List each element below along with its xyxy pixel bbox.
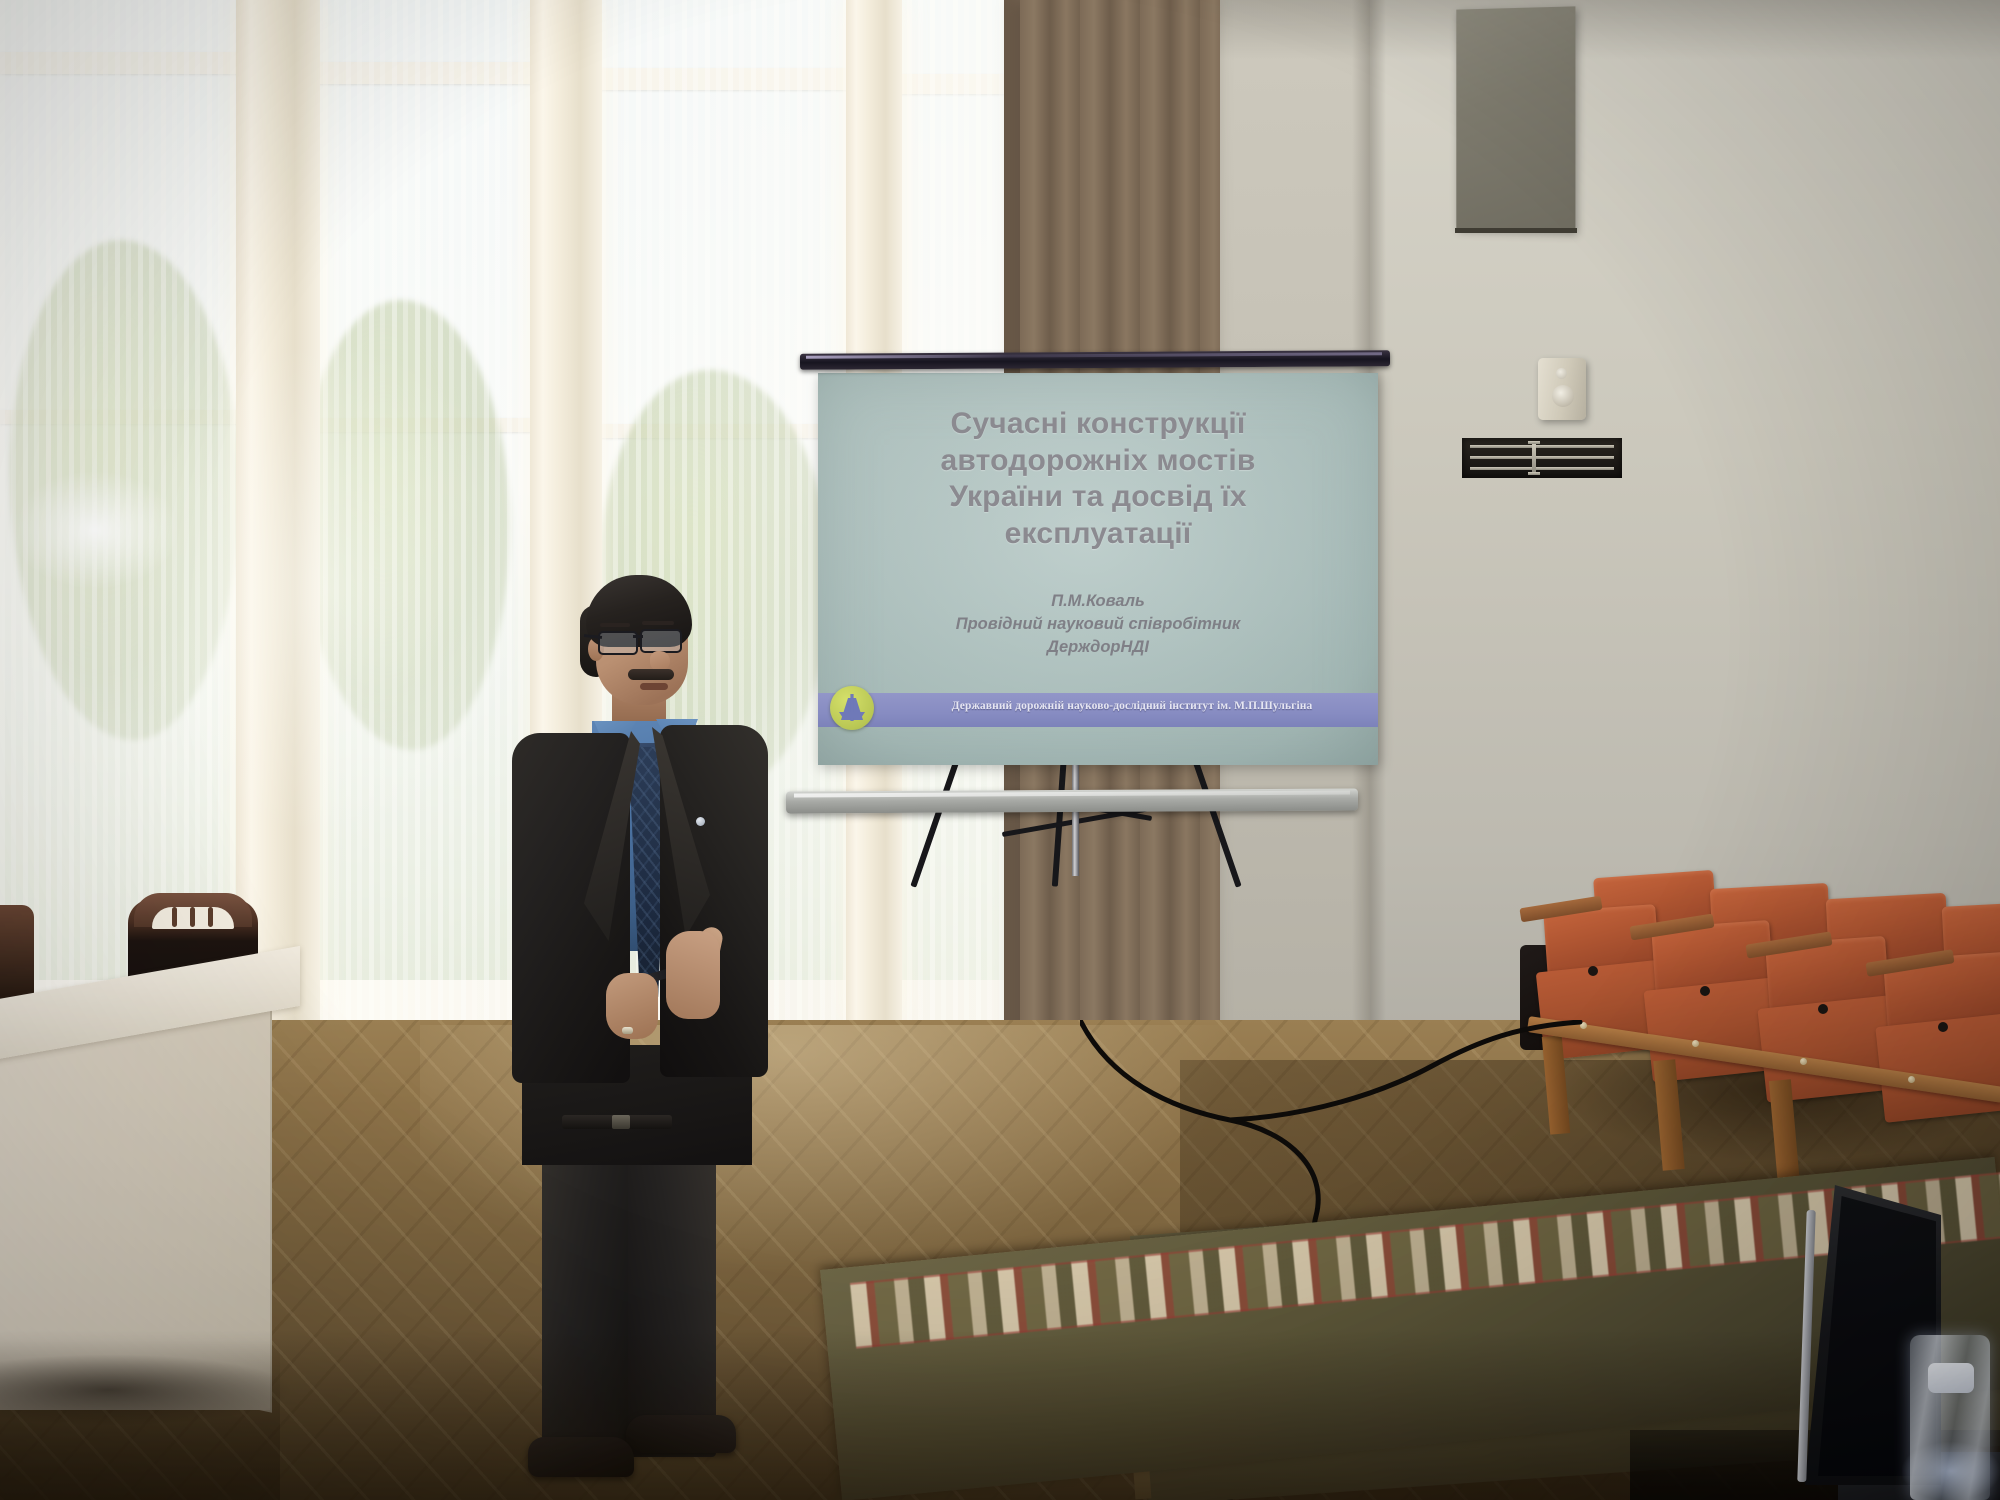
slide-title-line-1: Сучасні конструкції xyxy=(838,406,1358,443)
wall-panel-edge xyxy=(1455,228,1577,233)
eyeglasses-bridge xyxy=(633,635,643,638)
projection-screen[interactable]: Сучасні конструкції автодорожніх мостів … xyxy=(800,358,1390,848)
eyeglasses-icon xyxy=(598,631,638,655)
chair-spindle xyxy=(172,907,177,927)
water-bottle[interactable] xyxy=(1910,1335,1990,1500)
presenter-mustache xyxy=(628,669,674,680)
loudspeaker-tweeter xyxy=(1556,368,1567,379)
slide-subtitle-line-3: ДерждорНДІ xyxy=(858,636,1338,659)
presenter-jacket xyxy=(660,725,768,1077)
sun-flare xyxy=(120,330,540,850)
slide-subtitle-line-1: П.М.Коваль xyxy=(858,590,1338,613)
slide-subtitle-line-2: Провідний науковий співробітник xyxy=(858,613,1338,636)
sun-flare xyxy=(10,470,180,590)
chair-spindle xyxy=(190,907,195,927)
presenter-lapel-pin xyxy=(696,817,705,826)
presenter-ring xyxy=(622,1027,633,1034)
slide-title-line-4: експлуатації xyxy=(838,516,1358,553)
presenter-belt-buckle xyxy=(612,1115,630,1129)
air-vent-icon xyxy=(1462,438,1622,478)
photo-scene: Сучасні конструкції автодорожніх мостів … xyxy=(0,0,2000,1500)
presenter-mouth xyxy=(640,683,668,690)
slide-title: Сучасні конструкції автодорожніх мостів … xyxy=(838,406,1358,552)
highway-symbol-icon xyxy=(839,694,865,722)
slide-title-line-3: України та досвід їх xyxy=(838,479,1358,516)
eyeglasses-icon xyxy=(640,629,682,653)
slide-footer-text: Державний дорожній науково-дослідний інс… xyxy=(912,700,1352,712)
presenter-eyebrow xyxy=(642,621,674,625)
presenter[interactable] xyxy=(500,575,760,1375)
loudspeaker-cone xyxy=(1552,385,1574,407)
chair-spindle xyxy=(208,907,213,927)
slide-title-line-2: автодорожніх мостів xyxy=(838,443,1358,480)
bottle-cap[interactable] xyxy=(1928,1363,1974,1393)
presenter-hand xyxy=(666,931,720,1019)
wall-panel xyxy=(1456,6,1575,231)
slide-subtitle: П.М.Коваль Провідний науковий співробітн… xyxy=(858,590,1338,658)
chair-back xyxy=(0,905,34,1005)
presenter-nose xyxy=(650,651,670,671)
presenter-eyebrow xyxy=(600,623,630,627)
